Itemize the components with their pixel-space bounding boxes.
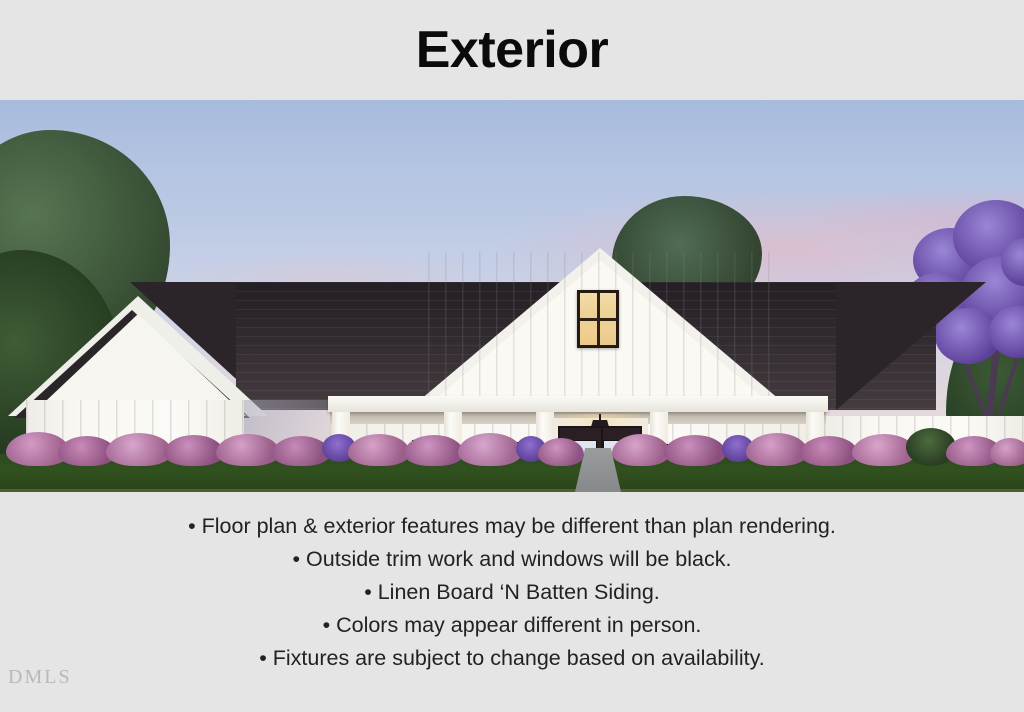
porch-beam	[328, 396, 828, 412]
note-bullet: • Floor plan & exterior features may be …	[0, 510, 1024, 543]
note-bullet: • Colors may appear different in person.	[0, 609, 1024, 642]
watermark: DMLS	[8, 666, 72, 689]
note-bullet: • Linen Board ‘N Batten Siding.	[0, 576, 1024, 609]
notes-block: • Floor plan & exterior features may be …	[0, 492, 1024, 712]
title-bar: Exterior	[0, 0, 1024, 100]
note-bullet: • Fixtures are subject to change based o…	[0, 642, 1024, 675]
exterior-rendering	[0, 100, 1024, 492]
flower-bed	[0, 422, 1024, 466]
slide-exterior: Exterior	[0, 0, 1024, 712]
notes-list: • Floor plan & exterior features may be …	[0, 510, 1024, 675]
page-title: Exterior	[0, 20, 1024, 80]
note-bullet: • Outside trim work and windows will be …	[0, 543, 1024, 576]
gable-window	[577, 290, 619, 348]
pendant-light-icon	[599, 414, 601, 421]
roof-right-slope	[836, 282, 986, 410]
